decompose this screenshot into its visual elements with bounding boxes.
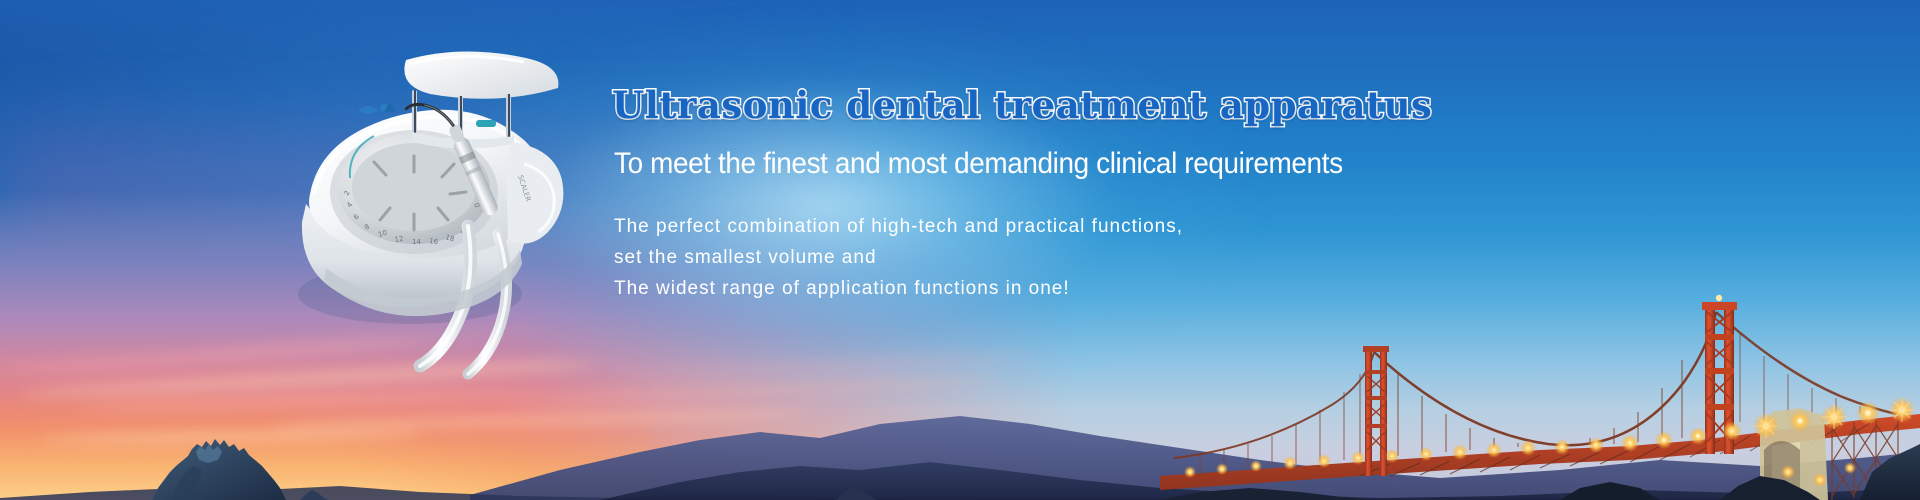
banner-subheadline: To meet the finest and most demanding cl…	[614, 147, 1282, 180]
svg-text:12: 12	[394, 235, 404, 244]
banner-copy: Ultrasonic dental treatment apparatus To…	[612, 86, 1332, 305]
banner-body-text: The perfect combination of high-tech and…	[614, 212, 1332, 304]
svg-text:14: 14	[412, 238, 421, 246]
body-line-1: The perfect combination of high-tech and…	[614, 212, 1332, 243]
promo-banner: 2 4 6 8 10 12 14 16 18 20 0	[0, 0, 1920, 500]
body-line-3: The widest range of application function…	[614, 274, 1332, 305]
svg-text:16: 16	[429, 237, 439, 246]
body-line-2: set the smallest volume and	[614, 243, 1332, 274]
banner-headline: Ultrasonic dental treatment apparatus	[612, 86, 1332, 125]
ultrasonic-scaler-device: 2 4 6 8 10 12 14 16 18 20 0	[262, 44, 592, 384]
